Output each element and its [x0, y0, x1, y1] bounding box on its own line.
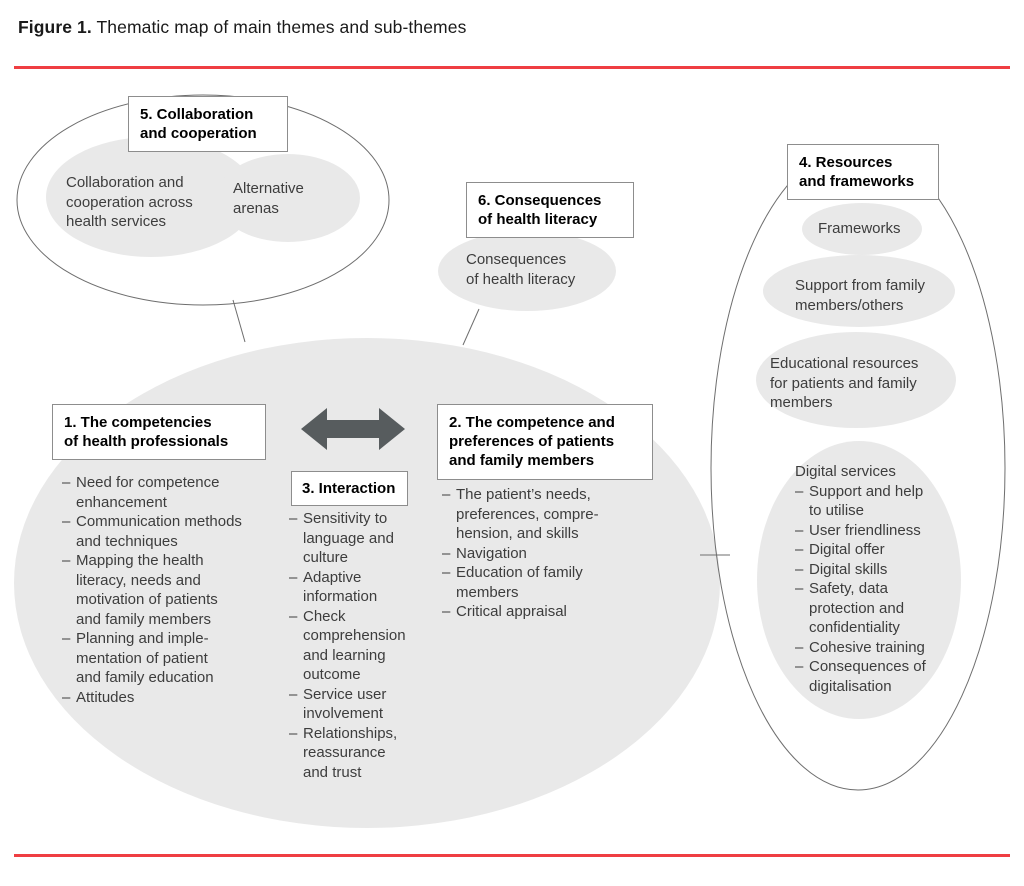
- theme-4-digital-services-list: Digital services Support and help to uti…: [795, 462, 955, 696]
- theme-4-bubble-label-educational: Educational resources for patients and f…: [770, 354, 950, 413]
- theme-5-title: 5. Collaboration and cooperation: [140, 106, 257, 142]
- list-item: Mapping the health literacy, needs and m…: [62, 551, 274, 629]
- digital-services-heading: Digital services: [795, 462, 955, 482]
- list-item: Critical appraisal: [442, 602, 650, 622]
- theme-5-subtheme-1: Collaboration and cooperation across hea…: [66, 173, 216, 232]
- theme-2-title-box[interactable]: 2. The competence and preferences of pat…: [437, 404, 653, 480]
- list-item: Sensitivity to language and culture: [289, 509, 411, 568]
- list-item: Attitudes: [62, 688, 274, 708]
- list-item: Digital skills: [795, 560, 955, 580]
- theme-3-title: 3. Interaction: [302, 480, 395, 497]
- list-item: Safety, data protection and confidential…: [795, 579, 955, 638]
- list-item: Digital offer: [795, 540, 955, 560]
- theme-5-subtheme-2: Alternative arenas: [233, 179, 343, 218]
- connector-theme6: [463, 309, 479, 345]
- theme-4-title-box[interactable]: 4. Resources and frameworks: [787, 144, 939, 200]
- theme-4-bubble-label-frameworks: Frameworks: [818, 219, 948, 239]
- theme-6-title: 6. Consequences of health literacy: [478, 192, 601, 228]
- list-item: Service user involvement: [289, 685, 411, 724]
- theme-3-title-box[interactable]: 3. Interaction: [291, 471, 408, 506]
- list-item: Need for competence enhancement: [62, 473, 274, 512]
- theme-6-subtheme-1: Consequences of health literacy: [466, 250, 626, 289]
- theme-2-subtheme-list: The patient’s needs, preferences, compre…: [442, 485, 650, 622]
- list-item: Relationships, reassurance and trust: [289, 724, 411, 783]
- theme-1-title-box[interactable]: 1. The competencies of health profession…: [52, 404, 266, 460]
- list-item: Check comprehension and learning outcome: [289, 607, 411, 685]
- list-item: Consequences of digitalisation: [795, 657, 955, 696]
- theme-3-subtheme-list: Sensitivity to language and culture Adap…: [289, 509, 411, 782]
- theme-6-title-box[interactable]: 6. Consequences of health literacy: [466, 182, 634, 238]
- list-item: Adaptive information: [289, 568, 411, 607]
- list-item: Education of family members: [442, 563, 650, 602]
- list-item: Navigation: [442, 544, 650, 564]
- list-item: Communication methods and techniques: [62, 512, 274, 551]
- list-item: Cohesive training: [795, 638, 955, 658]
- theme-5-title-box[interactable]: 5. Collaboration and cooperation: [128, 96, 288, 152]
- connector-theme5: [233, 300, 245, 342]
- theme-1-subtheme-list: Need for competence enhancement Communic…: [62, 473, 274, 707]
- theme-1-title: 1. The competencies of health profession…: [64, 414, 228, 450]
- list-item: User friendliness: [795, 521, 955, 541]
- list-item: Planning and imple- mentation of patient…: [62, 629, 274, 688]
- theme-4-title: 4. Resources and frameworks: [799, 154, 914, 190]
- figure-page: Figure 1. Thematic map of main themes an…: [0, 0, 1024, 886]
- theme-4-bubble-label-support: Support from family members/others: [795, 276, 965, 315]
- list-item: Support and help to utilise: [795, 482, 955, 521]
- list-item: The patient’s needs, preferences, compre…: [442, 485, 650, 544]
- theme-2-title: 2. The competence and preferences of pat…: [449, 414, 615, 469]
- bidirectional-arrow-icon: [301, 406, 405, 452]
